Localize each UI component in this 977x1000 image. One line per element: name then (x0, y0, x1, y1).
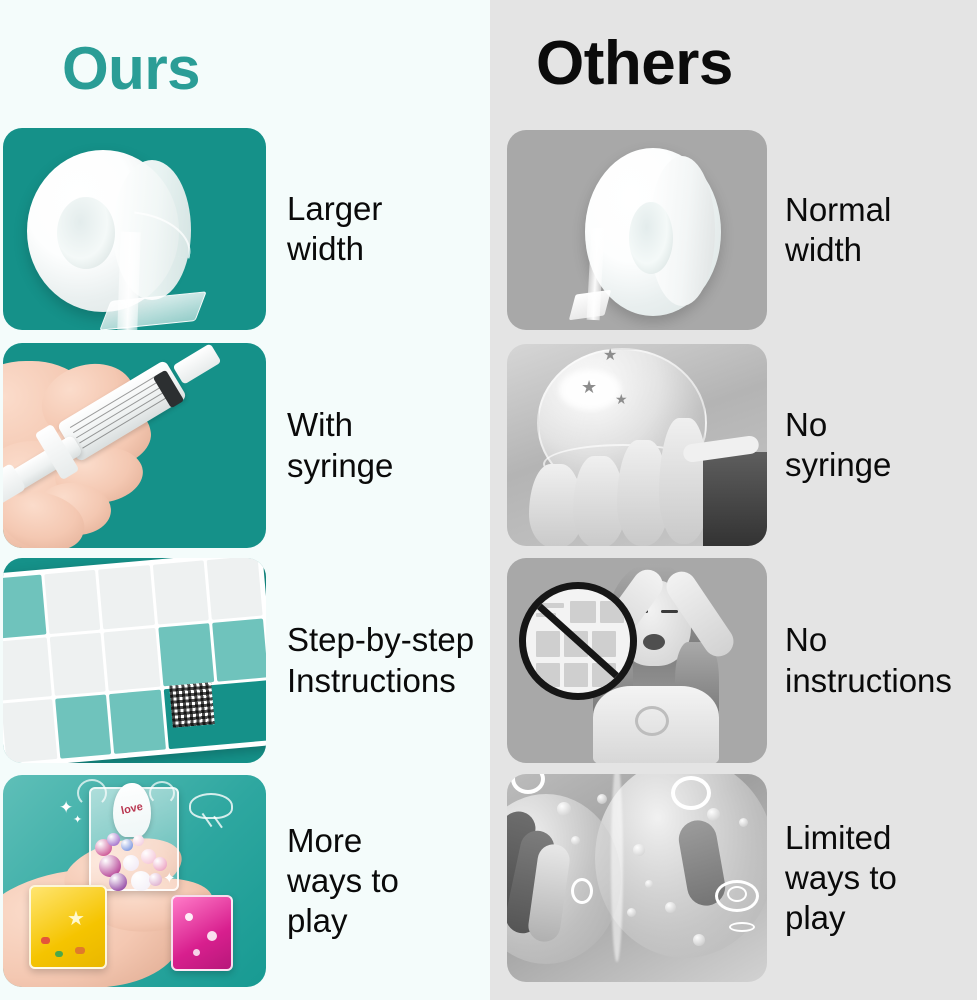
highlight-ring (727, 886, 747, 902)
bead (149, 873, 162, 886)
finger (659, 418, 709, 544)
ours-row-2-caption: With syringe (287, 405, 393, 486)
sheet-cell (104, 628, 160, 692)
bubble-droplet (633, 844, 645, 856)
others-row-1: 25mm Normal width (507, 130, 891, 330)
highlight-ring (511, 774, 545, 794)
confused-girl-no-instructions-photo (507, 558, 767, 763)
charm-cube-yellow: ★ (29, 885, 107, 969)
bubble-droplet (627, 908, 636, 917)
bubble-droplet (739, 818, 748, 827)
sparkle-doodle: ✦ (73, 815, 82, 826)
sheet-cell (212, 618, 266, 682)
others-row-2-caption: No syringe (785, 405, 891, 486)
bead (133, 835, 144, 846)
others-row-4-caption: Limited ways to play (785, 818, 897, 939)
girl-eye (661, 610, 678, 613)
others-row-4-image-card (507, 774, 767, 982)
bubble-droplet (707, 808, 720, 821)
ours-column-title: Ours (62, 34, 200, 103)
ours-row-1: 35mm Larger width (3, 128, 382, 330)
girl-necklace (635, 706, 669, 736)
dark-background-area (703, 452, 767, 546)
tape-roll-wide-photo: 35mm (3, 128, 266, 330)
bubble-droplet (693, 934, 705, 946)
others-row-3-caption: No instructions (785, 620, 952, 701)
others-column-title: Others (536, 28, 733, 99)
bubble-droplet (597, 794, 607, 804)
no-instructions-sign (519, 582, 637, 700)
ours-row-2-image-card (3, 343, 266, 548)
star-confetti: ★ (603, 348, 617, 364)
highlight-ring (671, 776, 711, 810)
ours-row-3-image-card (3, 558, 266, 763)
ours-row-1-image-card: 35mm (3, 128, 266, 330)
sheet-cell (50, 632, 106, 696)
girl-mouth (643, 634, 665, 650)
tape-roll-core-hole (629, 202, 673, 274)
bead (131, 871, 151, 891)
ours-row-4-caption: More ways to play (287, 821, 399, 942)
hook-doodle (149, 781, 175, 805)
star-confetti: ★ (615, 392, 628, 406)
charm-cube-pink (171, 895, 233, 971)
instruction-sheet-photo (3, 558, 266, 763)
sheet-cell (152, 560, 208, 624)
others-column: Others 25mm Normal width (490, 0, 977, 1000)
hand-holding-syringe-photo (3, 343, 266, 548)
diy-charm-bottles-photo: love ★ (3, 775, 266, 987)
sparkle-doodle: ✦ (163, 871, 176, 886)
bead (123, 855, 139, 871)
bubble-seam (611, 774, 623, 962)
cloud-doodle (189, 793, 233, 819)
tape-roll-core-hole (57, 197, 115, 269)
tape-roll-narrow-photo: 25mm (507, 130, 767, 330)
others-row-4: Limited ways to play (507, 774, 897, 982)
bubble-droplet (645, 880, 653, 888)
others-row-3: No instructions (507, 558, 952, 763)
bubble-droplet (571, 836, 580, 845)
bead (107, 833, 120, 846)
bead (121, 839, 133, 851)
sheet-cell (206, 558, 262, 620)
ours-column: Ours 35mm Larger width (0, 0, 490, 1000)
bead (153, 857, 167, 871)
ours-row-1-caption: Larger width (287, 189, 382, 270)
highlight-ring (729, 922, 755, 932)
others-row-3-image-card (507, 558, 767, 763)
ours-row-3-caption: Step-by-step Instructions (287, 620, 474, 701)
hook-doodle (77, 779, 107, 807)
instruction-sheet (3, 558, 266, 763)
sheet-cell (44, 570, 100, 634)
sheet-cell (3, 699, 58, 763)
bubble-droplet (557, 802, 571, 816)
others-row-2-image-card: ★ ★ ★ (507, 344, 767, 546)
tape-strip-flat-end (569, 290, 611, 320)
sticky-bubble-ball-photo (507, 774, 767, 982)
sheet-cell (3, 575, 47, 639)
ours-row-2: With syringe (3, 343, 393, 548)
highlight-ring (571, 878, 593, 904)
qr-code (169, 682, 215, 728)
sparkle-doodle: ✦ (59, 799, 73, 816)
comparison-infographic: Ours 35mm Larger width (0, 0, 977, 1000)
bead (109, 873, 127, 891)
sheet-cell (109, 690, 165, 754)
syringe-nozzle (172, 343, 221, 385)
ours-row-4-image-card: love ★ (3, 775, 266, 987)
sheet-cell (3, 637, 52, 701)
ours-row-4: love ★ (3, 775, 399, 987)
sheet-cell (55, 695, 111, 759)
others-row-1-caption: Normal width (785, 190, 891, 271)
star-confetti: ★ (581, 378, 597, 396)
others-row-2: ★ ★ ★ No syringe (507, 344, 891, 546)
sheet-cell (158, 623, 214, 687)
bubble-droplet (665, 902, 676, 913)
ours-row-3: Step-by-step Instructions (3, 558, 474, 763)
hand-holding-bubble-ball-photo: ★ ★ ★ (507, 344, 767, 546)
sheet-cell (98, 565, 154, 629)
others-row-1-image-card: 25mm (507, 130, 767, 330)
